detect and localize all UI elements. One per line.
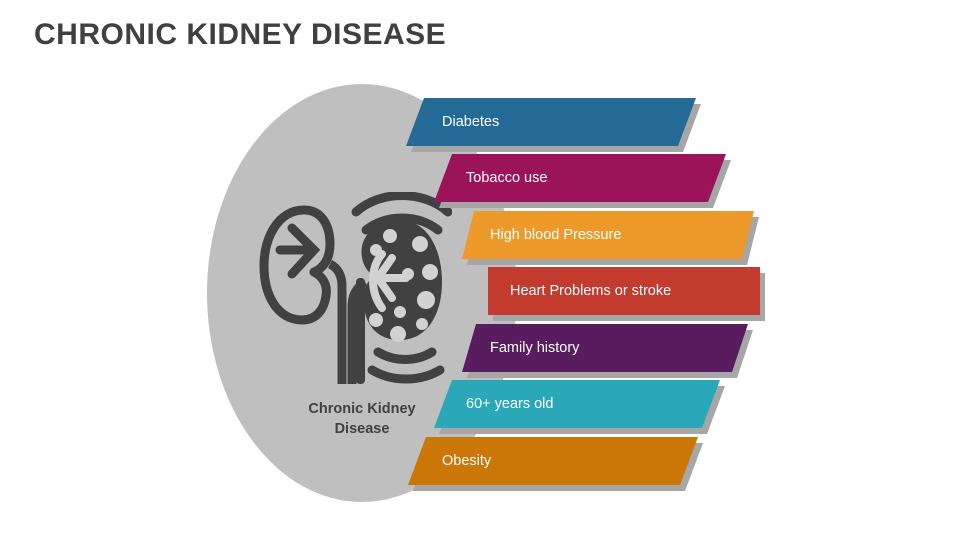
banner-shape [430, 152, 730, 204]
banner-shape [432, 378, 722, 430]
risk-factor-banner-60-plus-years-old[interactable]: 60+ years old [432, 378, 722, 430]
risk-factor-banner-tobacco-use[interactable]: Tobacco use [430, 152, 730, 204]
banner-shape [458, 209, 758, 261]
risk-factor-banner-diabetes[interactable]: Diabetes [400, 96, 700, 148]
banner-shape [400, 96, 700, 148]
banner-shape [484, 265, 764, 317]
banner-shape [460, 322, 752, 374]
risk-factor-banner-high-blood-pressure[interactable]: High blood Pressure [458, 209, 758, 261]
risk-factor-banner-heart-problems-or-stroke[interactable]: Heart Problems or stroke [484, 265, 764, 317]
risk-factor-banner-family-history[interactable]: Family history [460, 322, 752, 374]
kidneys-diseased-icon [252, 192, 452, 392]
center-caption: Chronic Kidney Disease [272, 400, 452, 439]
banner-shape [402, 435, 702, 487]
slide-canvas: CHRONIC KIDNEY DISEASE [0, 0, 960, 540]
risk-factor-banner-obesity[interactable]: Obesity [402, 435, 702, 487]
center-caption-line-1: Chronic Kidney [272, 400, 452, 420]
page-title: CHRONIC KIDNEY DISEASE [34, 18, 446, 52]
